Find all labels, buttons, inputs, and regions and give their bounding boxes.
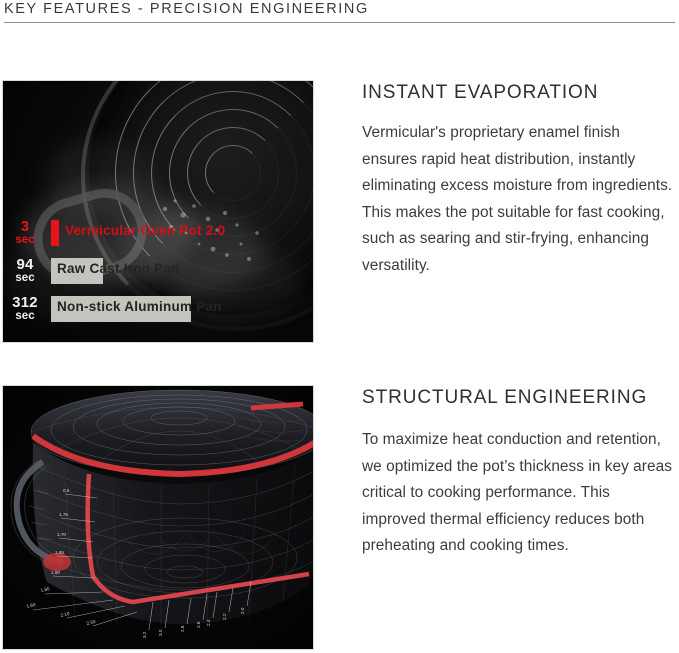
svg-text:2.2: 2.2: [222, 613, 227, 620]
feature-image-cad-wireframe: 0.5 1.75 1.70 1.65 1.90 1.80 1.60 2.10 2…: [2, 385, 314, 650]
bar-value-unit: sec: [3, 310, 47, 323]
bar-label: Raw Cast Iron Pan: [57, 261, 180, 276]
bar-fill-vermicular: [51, 220, 59, 246]
svg-text:0.5: 0.5: [63, 488, 70, 493]
bar-value-number: 312: [3, 295, 47, 310]
evaporation-time-bar-chart: 3 sec Vermicular Oven Pot 2.0 94 sec: [3, 219, 313, 335]
svg-text:2.50: 2.50: [86, 619, 96, 626]
cad-wireframe-svg: 0.5 1.75 1.70 1.65 1.90 1.80 1.60 2.10 2…: [3, 386, 313, 649]
svg-text:1.75: 1.75: [59, 512, 68, 517]
bar-value-unit: sec: [3, 234, 47, 247]
cad-diagram-scene: 0.5 1.75 1.70 1.65 1.90 1.80 1.60 2.10 2…: [3, 386, 313, 649]
header-divider: [4, 22, 675, 23]
svg-text:1.90: 1.90: [51, 570, 60, 575]
feature-body-text: To maximize heat conduction and retentio…: [362, 409, 674, 560]
svg-text:2.4: 2.4: [206, 619, 211, 626]
bar-value-number: 94: [3, 257, 47, 272]
svg-text:3.2: 3.2: [142, 631, 147, 638]
feature-heading: STRUCTURAL ENGINEERING: [362, 385, 674, 409]
feature-text-column: STRUCTURAL ENGINEERING To maximize heat …: [362, 385, 674, 560]
chart-bar-row: 94 sec Raw Cast Iron Pan: [3, 257, 313, 289]
bar-label: Non-stick Aluminum Pan: [57, 299, 222, 314]
bar-value-number: 3: [3, 219, 47, 234]
svg-text:2.6: 2.6: [196, 621, 201, 628]
feature-heading: INSTANT EVAPORATION: [362, 80, 674, 104]
bar-track: [51, 220, 59, 246]
bar-time-value: 3 sec: [3, 219, 47, 247]
svg-text:1.70: 1.70: [57, 532, 66, 537]
feature-image-steaming-pot: 3 sec Vermicular Oven Pot 2.0 94 sec: [2, 80, 314, 343]
pot-photo-scene: 3 sec Vermicular Oven Pot 2.0 94 sec: [3, 81, 313, 342]
svg-text:1.60: 1.60: [26, 602, 36, 609]
svg-text:2.10: 2.10: [60, 611, 70, 618]
svg-text:2.0: 2.0: [240, 607, 245, 614]
svg-text:2.8: 2.8: [180, 625, 185, 632]
chart-bar-row: 3 sec Vermicular Oven Pot 2.0: [3, 219, 313, 251]
page-title: KEY FEATURES - PRECISION ENGINEERING: [4, 1, 369, 17]
chart-bar-row: 312 sec Non-stick Aluminum Pan: [3, 295, 313, 327]
feature-text-column: INSTANT EVAPORATION Vermicular's proprie…: [362, 80, 674, 279]
feature-body-text: Vermicular's proprietary enamel finish e…: [362, 104, 674, 279]
svg-text:3.0: 3.0: [158, 629, 163, 636]
bar-time-value: 94 sec: [3, 257, 47, 285]
bar-value-unit: sec: [3, 272, 47, 285]
svg-text:1.80: 1.80: [40, 586, 50, 593]
svg-text:1.65: 1.65: [55, 550, 64, 555]
bar-time-value: 312 sec: [3, 295, 47, 323]
bar-label: Vermicular Oven Pot 2.0: [65, 223, 225, 238]
